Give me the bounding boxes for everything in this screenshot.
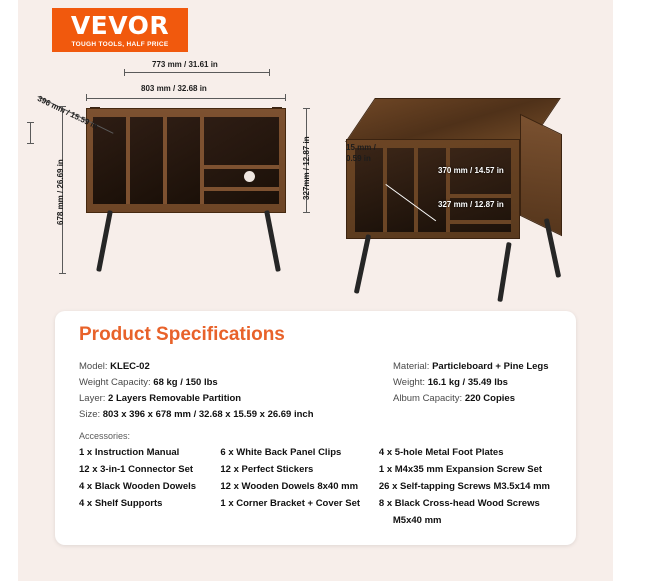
cabinet-front-view (86, 108, 286, 213)
shelf-height-label: 327 mm / 12.87 in (438, 200, 504, 209)
dimension-diagrams: 803 mm / 32.68 in 678 mm / 26.69 in 327m… (18, 60, 613, 295)
front-body-height-tick-bottom (303, 212, 310, 213)
spec-value-layer: 2 Layers Removable Partition (108, 393, 241, 404)
front-height-tick-bottom (59, 273, 66, 274)
spec-row-layer: Layer: 2 Layers Removable Partition (79, 391, 379, 407)
cable-hole (244, 171, 255, 182)
accessory-item: 26 x Self-tapping Screws M3.5x14 mm (379, 478, 559, 495)
spec-label-layer: Layer: (79, 393, 105, 404)
cabinet-compartments-front (93, 117, 279, 204)
spec-value-weight: 16.1 kg / 35.49 lbs (428, 377, 508, 388)
accessory-item: 8 x Black Cross-head Wood Screws (379, 495, 559, 512)
spec-label-size: Size: (79, 409, 100, 420)
accessory-item: 12 x Perfect Stickers (220, 461, 379, 478)
accessory-item: 12 x Wooden Dowels 8x40 mm (220, 478, 379, 495)
spec-row-weight-capacity: Weight Capacity: 68 kg / 150 lbs (79, 375, 379, 391)
accessory-item-continuation: M5x40 mm (379, 512, 559, 529)
thickness-tick-bottom (27, 143, 34, 144)
spec-card-title: Product Specifications (79, 324, 285, 346)
front-body-height-label: 327mm / 12.87 in (302, 136, 311, 200)
accessory-item: 1 x Instruction Manual (79, 444, 220, 461)
persp-leg-front-right (497, 242, 511, 302)
accessories-columns: 1 x Instruction Manual 12 x 3-in-1 Conne… (79, 444, 559, 529)
front-width-dim-line (86, 98, 286, 99)
cabinet-side-panel (520, 114, 562, 236)
spec-row-size: Size: 803 x 396 x 678 mm / 32.68 x 15.59… (79, 407, 379, 423)
spec-label-weight: Weight: (393, 377, 425, 388)
spec-right-column: Material: Particleboard + Pine Legs Weig… (393, 359, 573, 407)
front-body-height-tick-top (303, 108, 310, 109)
shelf-lower (204, 187, 279, 191)
front-width-tick-left (86, 94, 87, 101)
accessory-item: 1 x M4x35 mm Expansion Screw Set (379, 461, 559, 478)
persp-compartment-2 (387, 148, 419, 232)
accessory-item: 4 x Black Wooden Dowels (79, 478, 220, 495)
persp-top-width-label: 773 mm / 31.61 in (152, 60, 218, 69)
product-specifications-card: Product Specifications Model: KLEC-02 We… (55, 311, 576, 545)
accessory-item: 12 x 3-in-1 Connector Set (79, 461, 220, 478)
front-leg-left (96, 210, 113, 272)
front-leg-right (264, 210, 281, 272)
accessory-item: 6 x White Back Panel Clips (220, 444, 379, 461)
accessories-column-3: 4 x 5-hole Metal Foot Plates 1 x M4x35 m… (379, 444, 559, 529)
cabinet-perspective-view (334, 94, 584, 294)
spec-value-weight-capacity: 68 kg / 150 lbs (153, 377, 217, 388)
accessory-item: 1 x Corner Bracket + Cover Set (220, 495, 379, 512)
spec-row-model: Model: KLEC-02 (79, 359, 379, 375)
spec-label-material: Material: (393, 361, 429, 372)
front-height-label: 678 mm / 26.69 in (56, 159, 65, 225)
spec-row-weight: Weight: 16.1 kg / 35.49 lbs (393, 375, 573, 391)
front-width-tick-right (285, 94, 286, 101)
shelf-upper (204, 165, 279, 169)
front-width-label: 803 mm / 32.68 in (141, 84, 207, 93)
accessory-item: 4 x Shelf Supports (79, 495, 220, 512)
compartment-height-label: 370 mm / 14.57 in (438, 166, 504, 175)
spec-value-model: KLEC-02 (110, 361, 150, 372)
persp-leg-front-left (354, 234, 371, 294)
accessories-column-1: 1 x Instruction Manual 12 x 3-in-1 Conne… (79, 444, 220, 529)
compartment-open-section (204, 117, 279, 204)
spec-left-column: Model: KLEC-02 Weight Capacity: 68 kg / … (79, 359, 379, 423)
spec-value-material: Particleboard + Pine Legs (432, 361, 548, 372)
compartment-1 (93, 117, 130, 204)
persp-shelf-lower (450, 220, 511, 224)
compartment-3 (167, 117, 204, 204)
thickness-dim-line (30, 122, 31, 144)
spec-label-album-capacity: Album Capacity: (393, 393, 462, 404)
persp-shelf-upper (450, 194, 511, 198)
vevor-logo: VEVOR TOUGH TOOLS, HALF PRICE (52, 8, 188, 52)
spec-value-album-capacity: 220 Copies (465, 393, 515, 404)
accessories-label: Accessories: (79, 431, 130, 441)
spec-label-weight-capacity: Weight Capacity: (79, 377, 151, 388)
thickness-label: 15 mm / 0.59 in (346, 142, 382, 164)
brand-tagline: TOUGH TOOLS, HALF PRICE (72, 41, 169, 48)
spec-row-album-capacity: Album Capacity: 220 Copies (393, 391, 573, 407)
cabinet-body-front (86, 108, 286, 213)
product-info-page: VEVOR TOUGH TOOLS, HALF PRICE 803 mm / 3… (18, 0, 613, 581)
spec-row-material: Material: Particleboard + Pine Legs (393, 359, 573, 375)
spec-value-size: 803 x 396 x 678 mm / 32.68 x 15.59 x 26.… (103, 409, 314, 420)
persp-width-tick-left (124, 69, 125, 76)
persp-width-tick-right (269, 69, 270, 76)
thickness-tick-top (27, 122, 34, 123)
accessories-column-2: 6 x White Back Panel Clips 12 x Perfect … (220, 444, 379, 529)
spec-label-model: Model: (79, 361, 108, 372)
persp-open-section (450, 148, 511, 232)
compartment-2 (130, 117, 167, 204)
persp-top-width-dim-line (124, 72, 270, 73)
accessory-item: 4 x 5-hole Metal Foot Plates (379, 444, 559, 461)
brand-name: VEVOR (71, 13, 169, 38)
